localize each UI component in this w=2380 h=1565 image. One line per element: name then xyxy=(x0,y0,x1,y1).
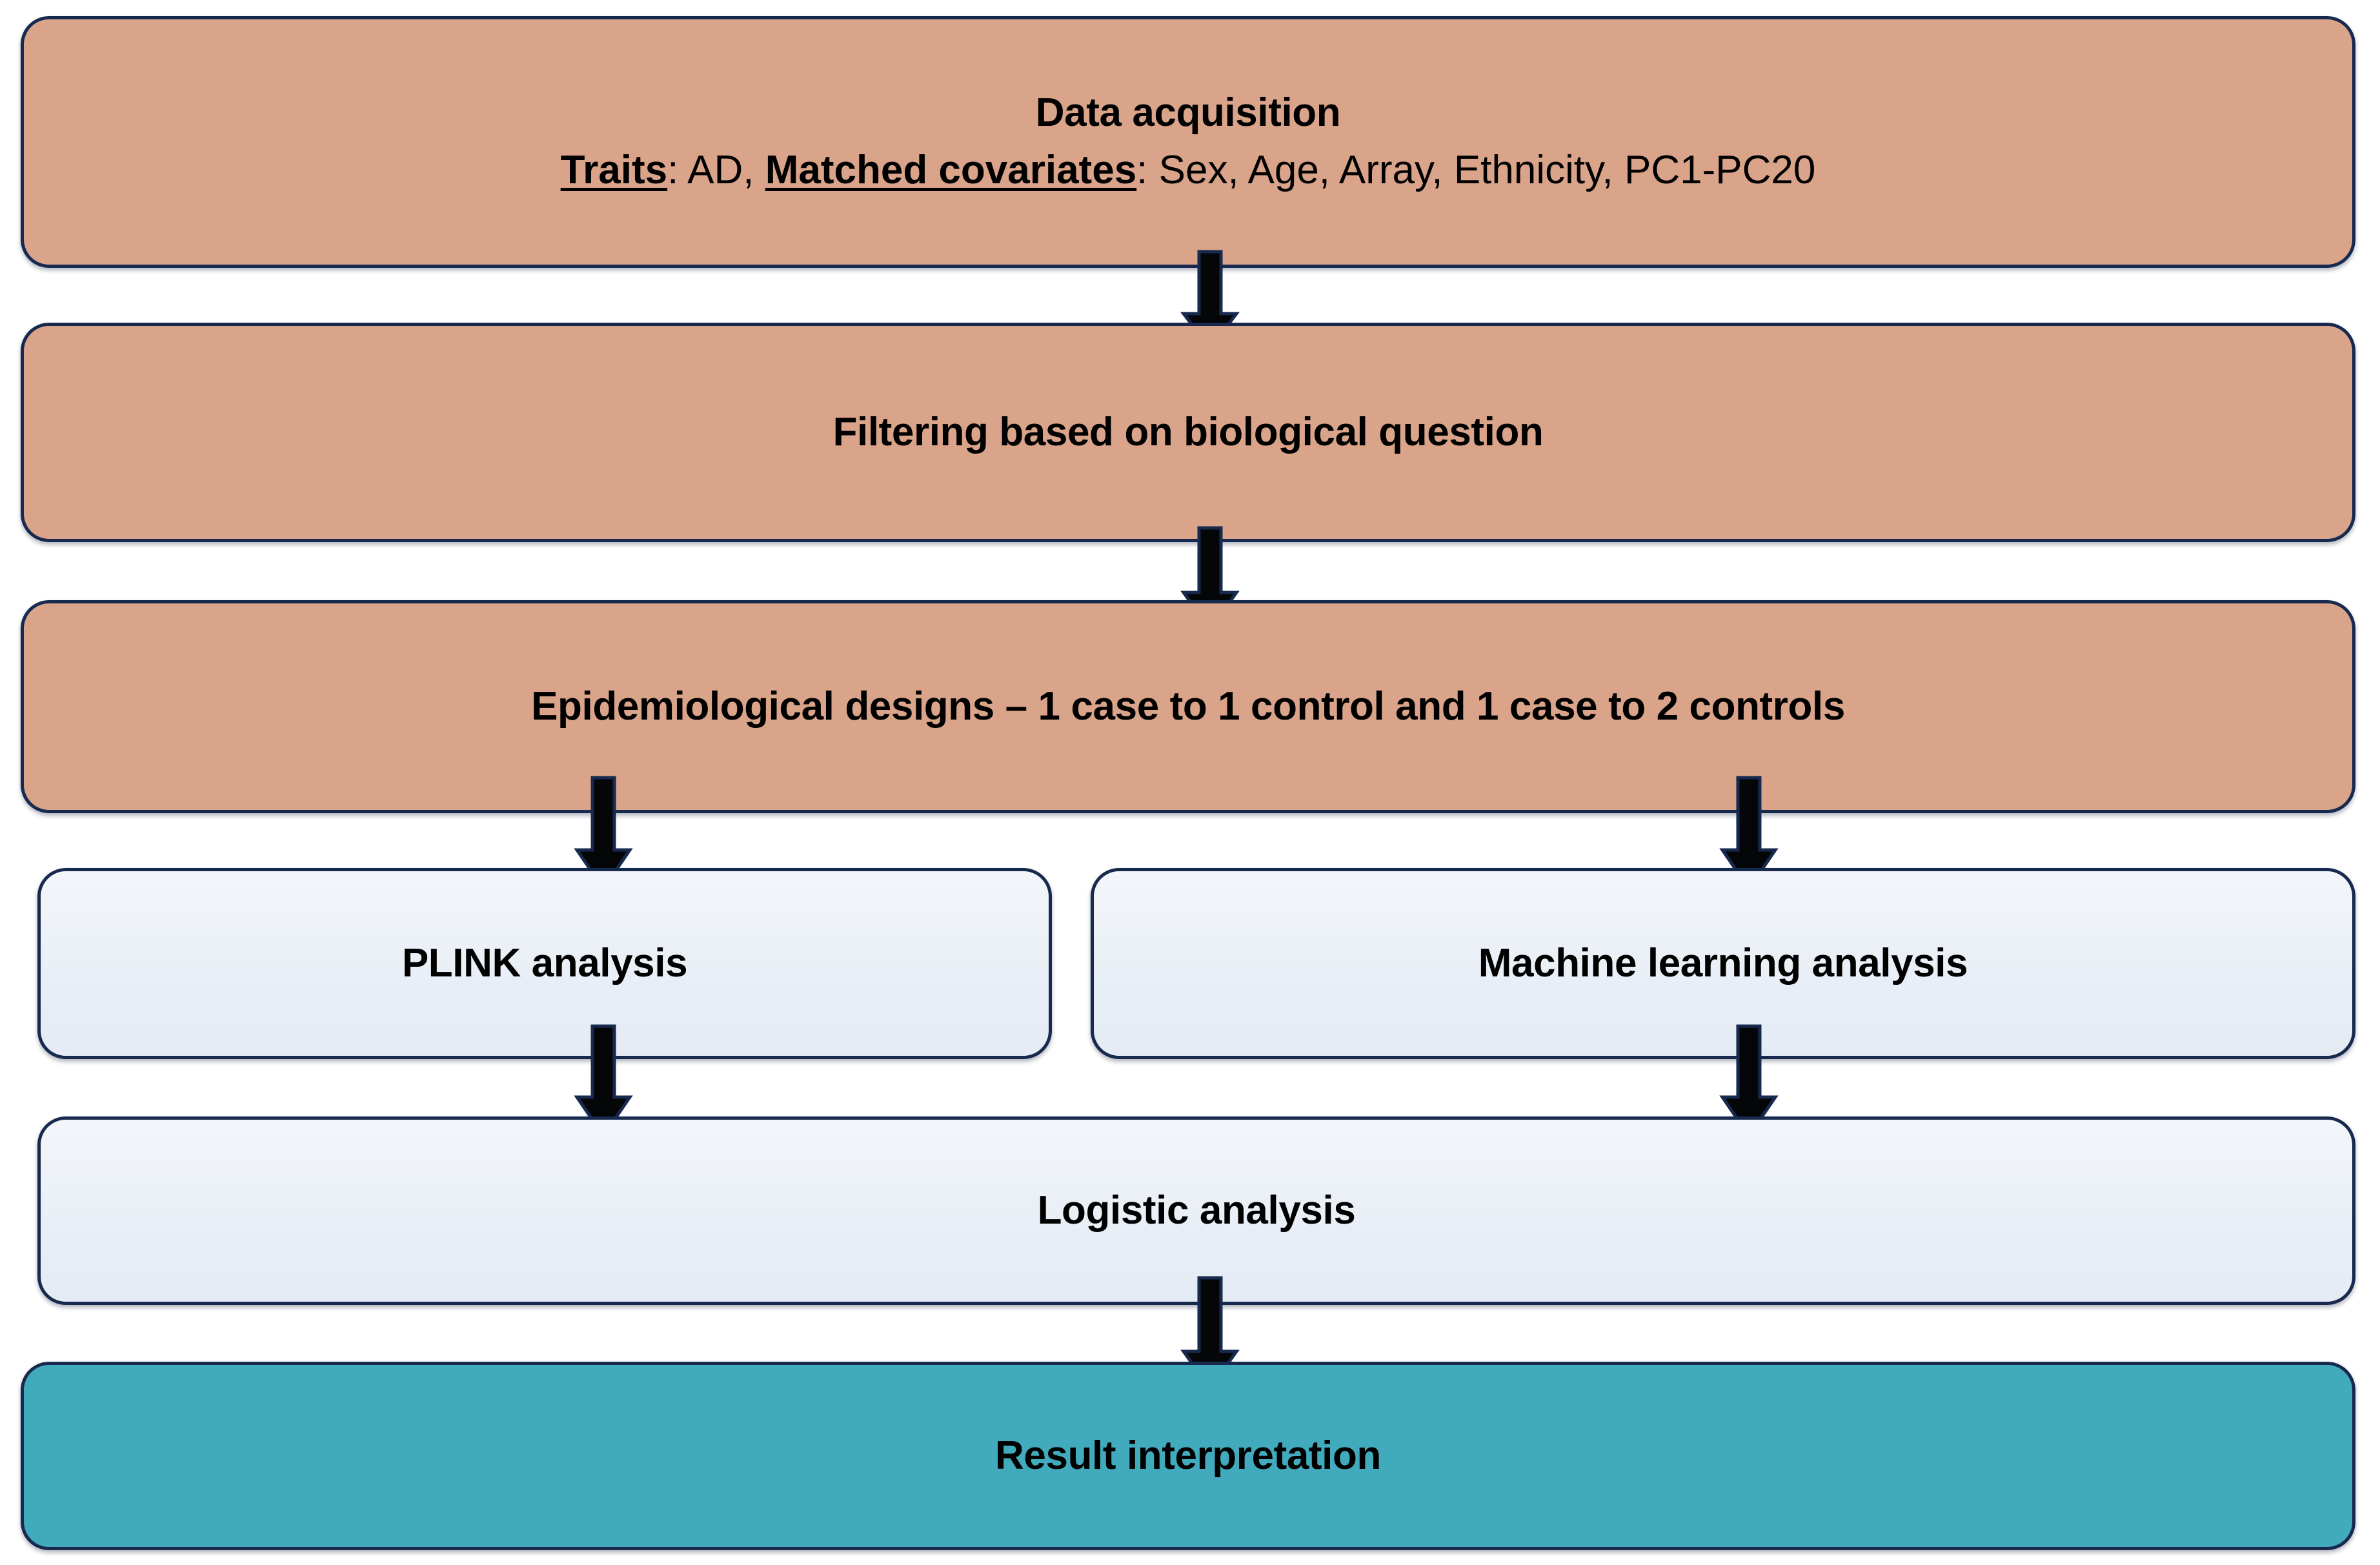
node-result-interpretation-title: Result interpretation xyxy=(995,1433,1381,1479)
flowchart-canvas: Data acquisition Traits: AD, Matched cov… xyxy=(0,0,2380,1565)
node-plink-analysis-title: PLINK analysis xyxy=(402,940,687,987)
traits-label: Traits xyxy=(561,148,667,192)
node-machine-learning-analysis-title: Machine learning analysis xyxy=(1478,940,1968,987)
traits-value: : AD, xyxy=(667,148,765,192)
node-epidemiological-designs-title: Epidemiological designs – 1 case to 1 co… xyxy=(531,683,1845,730)
node-plink-analysis[interactable]: PLINK analysis xyxy=(37,868,1052,1059)
node-logistic-analysis-title: Logistic analysis xyxy=(1038,1187,1356,1234)
matched-covariates-label: Matched covariates xyxy=(765,148,1136,192)
node-data-acquisition-title: Data acquisition xyxy=(1036,90,1340,136)
node-data-acquisition[interactable]: Data acquisition Traits: AD, Matched cov… xyxy=(21,16,2355,268)
node-epidemiological-designs[interactable]: Epidemiological designs – 1 case to 1 co… xyxy=(21,600,2355,813)
node-filtering[interactable]: Filtering based on biological question xyxy=(21,323,2355,542)
node-filtering-title: Filtering based on biological question xyxy=(833,409,1544,456)
node-result-interpretation[interactable]: Result interpretation xyxy=(21,1362,2355,1550)
node-logistic-analysis[interactable]: Logistic analysis xyxy=(37,1116,2355,1305)
matched-covariates-value: : Sex, Age, Array, Ethnicity, PC1-PC20 xyxy=(1136,148,1815,192)
node-data-acquisition-subtitle: Traits: AD, Matched covariates: Sex, Age… xyxy=(561,146,1816,194)
